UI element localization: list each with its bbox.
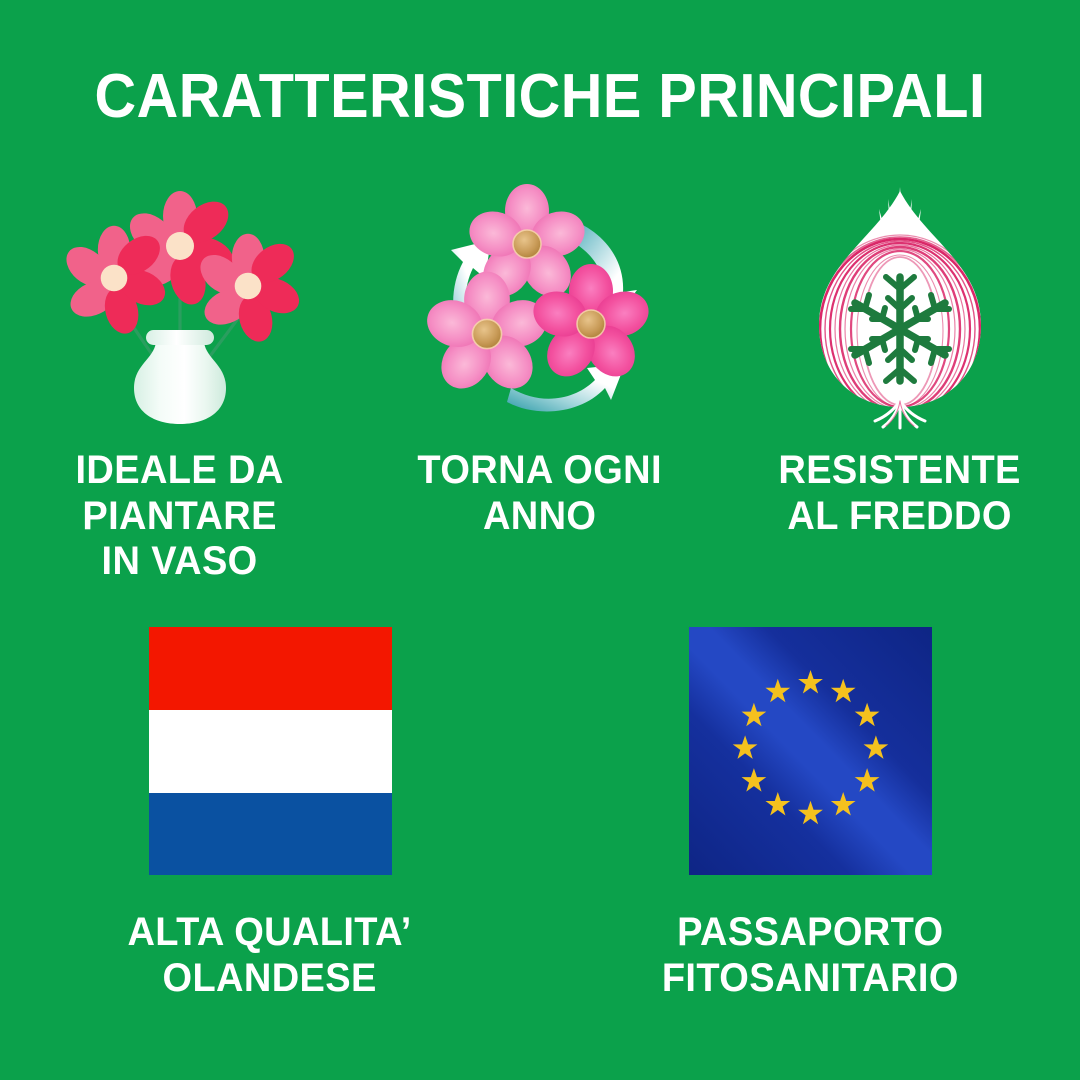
label-line-2: PIANTARE xyxy=(76,494,284,540)
feature-passaporto-fitosanitario: PASSAPORTO FITOSANITARIO xyxy=(540,620,1080,1001)
feature-label-resistente-al-freddo: RESISTENTE AL FREDDO xyxy=(779,448,1021,539)
flag-band-blue xyxy=(149,793,392,875)
page-title: CARATTERISTICHE PRINCIPALI xyxy=(38,64,1042,129)
flag-band-white xyxy=(149,710,392,793)
feature-alta-qualita-olandese: ALTA QUALITA’ OLANDESE xyxy=(0,620,540,1001)
label-line-2: ANNO xyxy=(418,494,662,540)
feature-resistente-al-freddo: RESISTENTE AL FREDDO xyxy=(720,168,1080,585)
label-line-2: FITOSANITARIO xyxy=(662,956,959,1002)
flag-field xyxy=(689,627,932,875)
label-line-2: OLANDESE xyxy=(128,956,412,1002)
feature-label-torna-ogni-anno: TORNA OGNI ANNO xyxy=(418,448,662,539)
label-line-1: TORNA OGNI xyxy=(418,448,662,494)
feature-label-passaporto-fitosanitario: PASSAPORTO FITOSANITARIO xyxy=(662,910,959,1001)
netherlands-flag-icon xyxy=(149,620,392,882)
label-line-1: RESISTENTE xyxy=(779,448,1021,494)
features-bottom-row: ALTA QUALITA’ OLANDESE xyxy=(0,620,1080,1001)
feature-torna-ogni-anno: TORNA OGNI ANNO xyxy=(360,168,720,585)
flower-vase-icon xyxy=(60,168,300,430)
feature-ideale-da-piantare-in-vaso: IDEALE DA PIANTARE IN VASO xyxy=(0,168,360,585)
label-line-3: IN VASO xyxy=(76,539,284,585)
flag-band-red xyxy=(149,627,392,710)
label-line-2: AL FREDDO xyxy=(779,494,1021,540)
flower-cycle-icon xyxy=(415,168,665,430)
features-top-row: IDEALE DA PIANTARE IN VASO xyxy=(0,168,1080,585)
label-line-1: ALTA QUALITA’ xyxy=(128,910,412,956)
label-line-1: IDEALE DA xyxy=(76,448,284,494)
bulb-snowflake-icon xyxy=(775,168,1025,430)
label-line-1: PASSAPORTO xyxy=(662,910,959,956)
european-union-flag-icon xyxy=(689,620,932,882)
feature-label-ideale-da-piantare-in-vaso: IDEALE DA PIANTARE IN VASO xyxy=(76,448,284,585)
feature-label-alta-qualita-olandese: ALTA QUALITA’ OLANDESE xyxy=(128,910,412,1001)
